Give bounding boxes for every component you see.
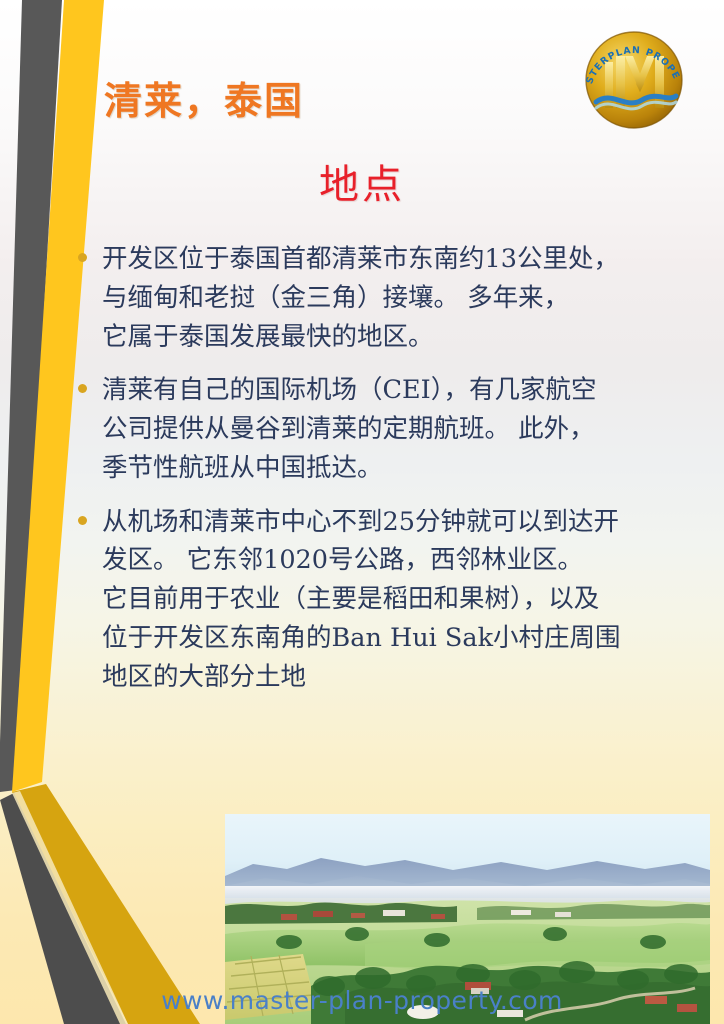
dark-stripe-upper bbox=[0, 0, 62, 792]
bullet-line: 发区。 它东邻1020号公路，西邻林业区。 bbox=[102, 541, 706, 580]
bullet-line: 它属于泰国发展最快的地区。 bbox=[102, 318, 706, 357]
website-url[interactable]: www.master-plan-property.com bbox=[0, 986, 724, 1015]
masterplan-property-logo: MASTERPLAN PROPERTY bbox=[578, 22, 690, 134]
slide-subtitle: 地点 bbox=[0, 152, 724, 210]
bullet-line: 清莱有自己的国际机场（CEI），有几家航空 bbox=[102, 371, 706, 410]
list-item: 开发区位于泰国首都清莱市东南约13公里处， 与缅甸和老挝（金三角）接壤。 多年来… bbox=[72, 240, 706, 356]
bullet-dot-icon bbox=[78, 384, 87, 393]
list-item: 从机场和清莱市中心不到25分钟就可以到达开 发区。 它东邻1020号公路，西邻林… bbox=[72, 503, 706, 697]
bullet-line: 位于开发区东南角的Ban Hui Sak小村庄周围 bbox=[102, 619, 706, 658]
bullet-line: 从机场和清莱市中心不到25分钟就可以到达开 bbox=[102, 503, 706, 542]
bullet-line: 与缅甸和老挝（金三角）接壤。 多年来， bbox=[102, 279, 706, 318]
slide: MASTERPLAN PROPERTY 清莱，泰国 地点 开发区位于泰国首都清莱… bbox=[0, 0, 724, 1024]
bullet-line: 开发区位于泰国首都清莱市东南约13公里处， bbox=[102, 240, 706, 279]
list-item: 清莱有自己的国际机场（CEI），有几家航空 公司提供从曼谷到清莱的定期航班。 此… bbox=[72, 371, 706, 487]
bullet-line: 公司提供从曼谷到清莱的定期航班。 此外， bbox=[102, 410, 706, 449]
bullet-list: 开发区位于泰国首都清莱市东南约13公里处， 与缅甸和老挝（金三角）接壤。 多年来… bbox=[72, 240, 706, 711]
bullet-line: 季节性航班从中国抵达。 bbox=[102, 449, 706, 488]
bullet-dot-icon bbox=[78, 253, 87, 262]
bullet-line: 地区的大部分土地 bbox=[102, 658, 706, 697]
bullet-dot-icon bbox=[78, 516, 87, 525]
slide-title: 清莱，泰国 bbox=[104, 70, 304, 125]
bullet-line: 它目前用于农业（主要是稻田和果树），以及 bbox=[102, 580, 706, 619]
